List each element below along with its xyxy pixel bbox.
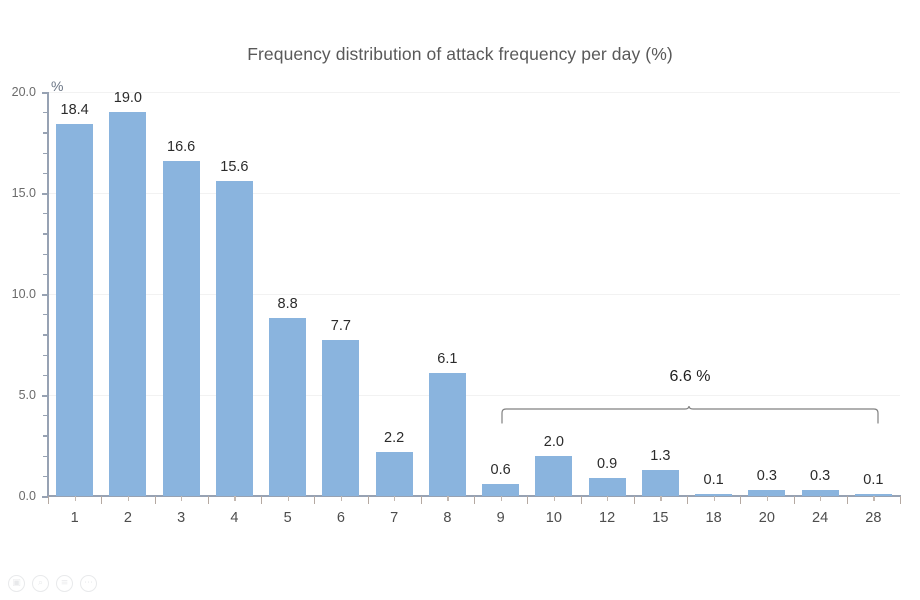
x-axis-minor-tick [341, 496, 342, 501]
x-axis-tick-label: 7 [367, 510, 421, 526]
x-axis-minor-tick [447, 496, 448, 501]
x-axis-tick [368, 496, 369, 504]
bar[interactable] [589, 478, 626, 496]
bar-value-label: 2.2 [364, 430, 424, 446]
y-axis-minor-tick [43, 456, 48, 457]
x-axis-minor-tick [714, 496, 715, 501]
bar[interactable] [535, 456, 572, 496]
bar[interactable] [376, 452, 413, 496]
x-axis-tick [474, 496, 475, 504]
x-axis-minor-tick [128, 496, 129, 501]
x-axis-tick-label: 6 [314, 510, 368, 526]
bar-value-label: 1.3 [630, 448, 690, 464]
bar[interactable] [163, 161, 200, 496]
y-axis-minor-tick [43, 132, 48, 133]
list-icon[interactable]: ≡ [56, 575, 73, 592]
bar-value-label: 0.1 [843, 472, 903, 488]
x-axis-tick-label: 5 [261, 510, 315, 526]
x-axis-tick [794, 496, 795, 504]
y-axis-tick [42, 193, 49, 195]
x-axis-tick-label: 4 [207, 510, 261, 526]
bar[interactable] [748, 490, 785, 496]
y-axis-minor-tick [43, 173, 48, 174]
x-axis-minor-tick [181, 496, 182, 501]
bar[interactable] [695, 494, 732, 496]
x-axis-minor-tick [660, 496, 661, 501]
x-axis-tick-label: 28 [846, 510, 900, 526]
x-axis-tick [208, 496, 209, 504]
y-axis-tick-label: 0.0 [0, 489, 36, 503]
x-axis-minor-tick [288, 496, 289, 501]
x-axis-tick-label: 18 [687, 510, 741, 526]
x-axis-tick-label: 1 [48, 510, 102, 526]
y-axis-minor-tick [43, 334, 48, 335]
x-axis-minor-tick [75, 496, 76, 501]
y-axis-tick-label: 10.0 [0, 287, 36, 301]
y-axis-tick [42, 395, 49, 397]
y-axis-minor-tick [43, 435, 48, 436]
y-axis-minor-tick [43, 314, 48, 315]
x-axis-minor-tick [501, 496, 502, 501]
x-axis-tick-label: 3 [154, 510, 208, 526]
y-axis-minor-tick [43, 476, 48, 477]
x-axis-tick-label: 15 [633, 510, 687, 526]
y-axis-minor-tick [43, 355, 48, 356]
bar[interactable] [642, 470, 679, 496]
bar[interactable] [429, 373, 466, 496]
y-axis-minor-tick [43, 254, 48, 255]
bar-value-label: 16.6 [151, 139, 211, 155]
chart-toolbar[interactable]: ▣⌕≡⋯ [8, 575, 97, 592]
x-axis-tick [634, 496, 635, 504]
bar-value-label: 2.0 [524, 434, 584, 450]
x-axis-tick [48, 496, 49, 504]
bar-value-label: 15.6 [204, 159, 264, 175]
x-axis-tick [527, 496, 528, 504]
bar[interactable] [109, 112, 146, 496]
gridline [48, 92, 900, 93]
x-axis-minor-tick [607, 496, 608, 501]
bar-value-label: 0.6 [471, 462, 531, 478]
x-axis-tick-label: 24 [793, 510, 847, 526]
x-axis-tick [900, 496, 901, 504]
bar-value-label: 0.9 [577, 456, 637, 472]
x-axis-tick-label: 2 [101, 510, 155, 526]
bar-value-label: 0.3 [737, 468, 797, 484]
x-axis-tick [581, 496, 582, 504]
y-axis-minor-tick [43, 153, 48, 154]
y-axis-minor-tick [43, 415, 48, 416]
x-axis-minor-tick [234, 496, 235, 501]
x-axis-minor-tick [394, 496, 395, 501]
x-axis-tick [101, 496, 102, 504]
bar[interactable] [802, 490, 839, 496]
y-axis-minor-tick [43, 213, 48, 214]
bar[interactable] [855, 494, 892, 496]
x-axis-minor-tick [554, 496, 555, 501]
x-axis-tick [314, 496, 315, 504]
bar-value-label: 6.1 [417, 351, 477, 367]
bracket-annotation [500, 406, 880, 424]
x-axis-tick [740, 496, 741, 504]
bar-value-label: 19.0 [98, 90, 158, 106]
bar-value-label: 0.3 [790, 468, 850, 484]
x-axis-tick [421, 496, 422, 504]
x-axis-minor-tick [873, 496, 874, 501]
y-axis-tick-label: 5.0 [0, 388, 36, 402]
y-axis-tick-label: 15.0 [0, 186, 36, 200]
x-axis-tick [687, 496, 688, 504]
bar[interactable] [322, 340, 359, 496]
bar-value-label: 0.1 [684, 472, 744, 488]
x-axis-tick [847, 496, 848, 504]
camera-icon[interactable]: ▣ [8, 575, 25, 592]
bar[interactable] [482, 484, 519, 496]
x-axis-tick-label: 10 [527, 510, 581, 526]
x-axis-tick [155, 496, 156, 504]
y-axis-tick-label: 20.0 [0, 85, 36, 99]
zoom-icon[interactable]: ⌕ [32, 575, 49, 592]
bar[interactable] [216, 181, 253, 496]
x-axis-tick-label: 8 [420, 510, 474, 526]
x-axis-tick-label: 12 [580, 510, 634, 526]
x-axis-tick-label: 9 [474, 510, 528, 526]
y-axis-minor-tick [43, 233, 48, 234]
bar-value-label: 7.7 [311, 318, 371, 334]
y-axis-minor-tick [43, 375, 48, 376]
chart-container: Frequency distribution of attack frequen… [0, 0, 920, 600]
y-axis-tick [42, 294, 49, 296]
bar-value-label: 18.4 [45, 102, 105, 118]
bar[interactable] [269, 318, 306, 496]
y-axis-minor-tick [43, 274, 48, 275]
x-axis-minor-tick [767, 496, 768, 501]
x-axis-tick-label: 20 [740, 510, 794, 526]
chart-title: Frequency distribution of attack frequen… [0, 44, 920, 65]
bar-value-label: 8.8 [258, 296, 318, 312]
x-axis-tick [261, 496, 262, 504]
bracket-annotation-label: 6.6 % [500, 368, 880, 386]
y-axis-tick [42, 92, 49, 94]
more-icon[interactable]: ⋯ [80, 575, 97, 592]
bar[interactable] [56, 124, 93, 496]
x-axis-minor-tick [820, 496, 821, 501]
